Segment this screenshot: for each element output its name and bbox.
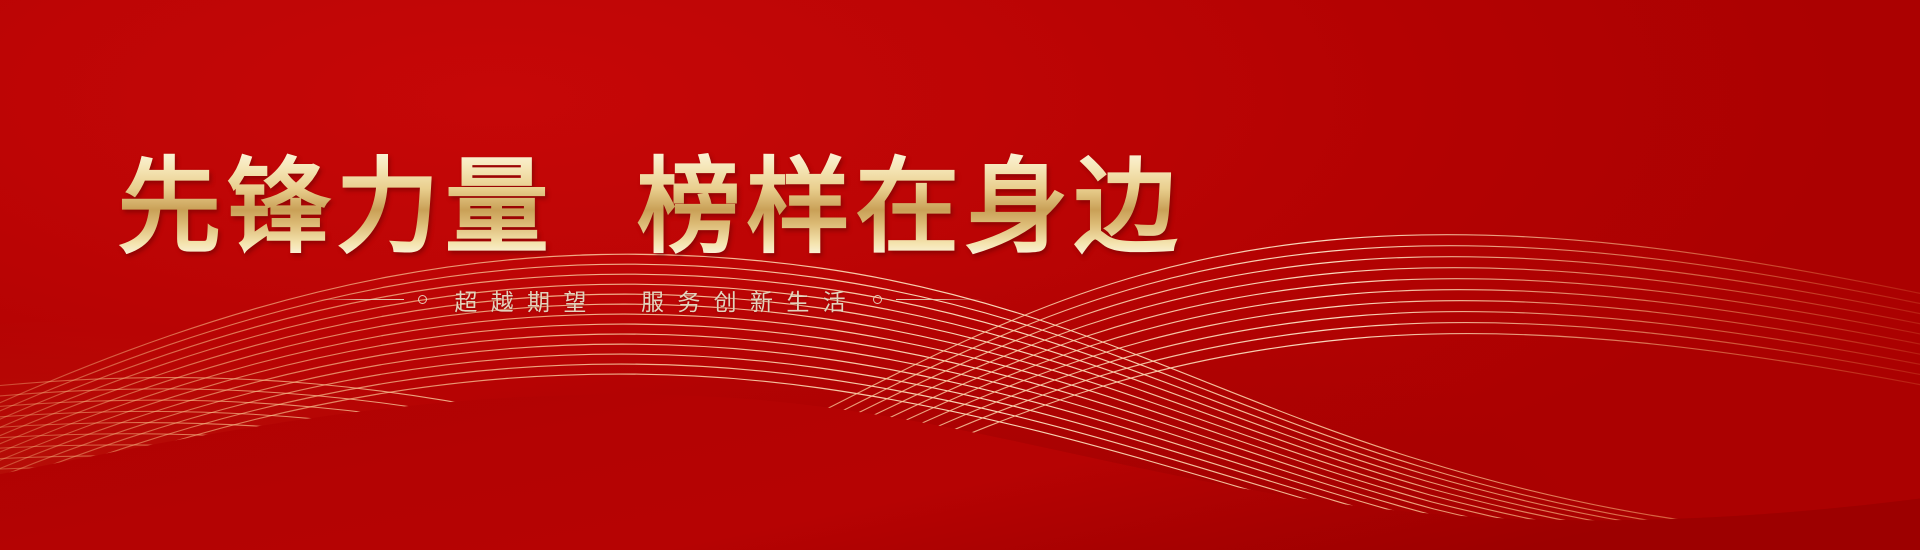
page-subtitle: 超越期望 服务创新生活 xyxy=(441,283,859,317)
left-circle-marker-icon xyxy=(418,295,427,304)
page-title: 先锋力量 榜样在身边 xyxy=(0,148,1300,267)
headline-block: 先锋力量 榜样在身边 超越期望 服务创新生活 xyxy=(0,148,1300,317)
subtitle-row: 超越期望 服务创新生活 xyxy=(0,283,1300,317)
right-rule-icon xyxy=(896,299,982,300)
right-circle-marker-icon xyxy=(873,295,882,304)
left-rule-icon xyxy=(318,299,404,300)
banner-root: 先锋力量 榜样在身边 超越期望 服务创新生活 xyxy=(0,0,1920,550)
